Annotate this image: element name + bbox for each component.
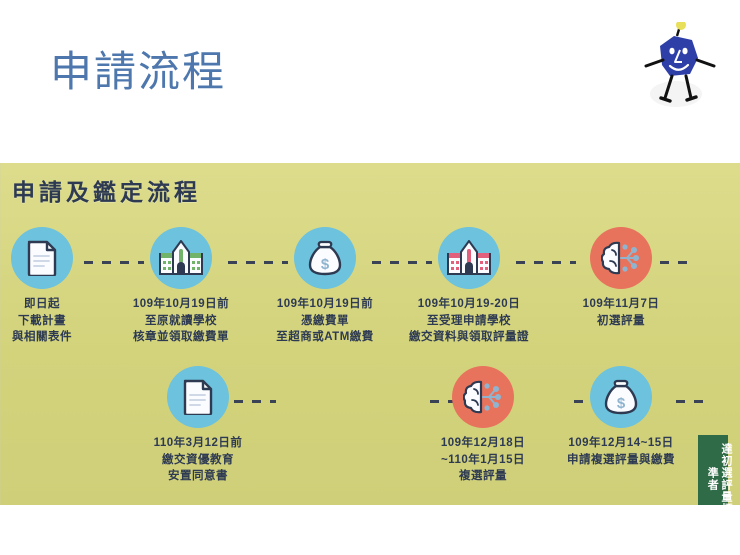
blue-blob-mascot-icon	[636, 22, 722, 112]
brain-icon	[463, 380, 503, 414]
flow-step-7[interactable]: 109年12月18日 ~110年1月15日 複選評量	[408, 366, 558, 485]
svg-text:$: $	[321, 256, 330, 273]
slide-header: 申請流程	[0, 0, 740, 163]
step-7-caption: 109年12月18日 ~110年1月15日 複選評量	[408, 435, 558, 485]
flow-step-8[interactable]: 110年3月12日前 繳交資優教育 安置同意書	[123, 366, 273, 485]
step-7-bubble	[452, 366, 514, 428]
money-bag-icon: $	[308, 240, 342, 276]
step-4-bubble	[438, 227, 500, 289]
panel-heading: 申請及鑑定流程	[12, 173, 201, 207]
slide-root: 申請流程 申請及鑑定流程	[0, 0, 740, 555]
step-8-bubble	[167, 366, 229, 428]
step-4-caption: 109年10月19-20日 至受理申請學校 繳交資料與領取評量證	[394, 296, 544, 346]
flow-step-5[interactable]: 109年11月7日 初選評量	[546, 227, 696, 329]
step-5-bubble	[590, 227, 652, 289]
step-1-caption: 即日起 下載計畫 與相關表件	[0, 296, 117, 346]
flow-step-3[interactable]: $ 109年10月19日前 憑繳費單 至超商或ATM繳費	[250, 227, 400, 346]
step-6-caption: 109年12月14~15日 申請複選評量與繳費	[546, 435, 696, 468]
step-3-caption: 109年10月19日前 憑繳費單 至超商或ATM繳費	[250, 296, 400, 346]
step-5-caption: 109年11月7日 初選評量	[546, 296, 696, 329]
document-icon	[26, 240, 58, 276]
step-3-bubble: $	[294, 227, 356, 289]
step-2-caption: 109年10月19日前 至原就讀學校 核章並領取繳費單	[106, 296, 256, 346]
application-flow-panel: 申請及鑑定流程 即日起 下載計畫	[0, 163, 740, 505]
school-green-icon	[159, 240, 203, 276]
step-2-bubble	[150, 227, 212, 289]
flow-step-2[interactable]: 109年10月19日前 至原就讀學校 核章並領取繳費單	[106, 227, 256, 346]
flow-step-6[interactable]: $ 109年12月14~15日 申請複選評量與繳費	[546, 366, 696, 468]
step-8-caption: 110年3月12日前 繳交資優教育 安置同意書	[123, 435, 273, 485]
document-icon	[182, 379, 214, 415]
page-title: 申請流程	[50, 38, 226, 99]
step-6-bubble: $	[590, 366, 652, 428]
step-1-bubble	[11, 227, 73, 289]
flow-step-1[interactable]: 即日起 下載計畫 與相關表件	[0, 227, 117, 346]
footer-strip	[0, 505, 740, 555]
brain-icon	[601, 241, 641, 275]
flow-step-4[interactable]: 109年10月19-20日 至受理申請學校 繳交資料與領取評量證	[394, 227, 544, 346]
svg-text:$: $	[617, 395, 626, 412]
school-pink-icon	[447, 240, 491, 276]
down-arrow-label: 達初選評量標準者	[694, 441, 732, 505]
money-bag-icon: $	[604, 379, 638, 415]
